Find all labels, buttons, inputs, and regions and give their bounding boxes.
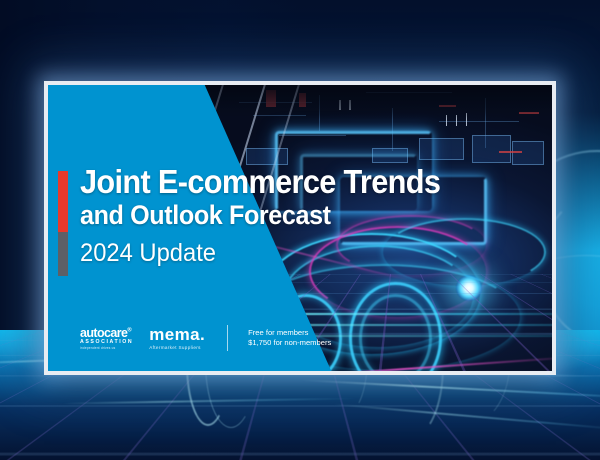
slide-content: Joint E-commerce Trends and Outlook Fore… xyxy=(48,85,552,371)
mema-subtitle: Aftermarket Suppliers xyxy=(149,346,201,351)
screenshot-stage: Joint E-commerce Trends and Outlook Fore… xyxy=(0,0,600,460)
mema-word-text: mema xyxy=(149,325,200,344)
mema-logo: mema. Aftermarket Suppliers xyxy=(149,326,205,351)
autocare-tagline: independent drives us xyxy=(80,347,115,350)
autocare-registered-mark: ® xyxy=(127,327,131,333)
mema-wordmark: mema. xyxy=(149,326,205,343)
slide-title-line-1: Joint E-commerce Trends xyxy=(80,165,480,198)
title-accent-bar xyxy=(58,171,68,276)
footer-divider xyxy=(227,325,228,351)
accent-bar-gray-segment xyxy=(58,232,68,276)
accent-bar-red-segment xyxy=(58,171,68,232)
autocare-association-logo: autocare® ASSOCIATION independent drives… xyxy=(80,326,133,351)
autocare-wordmark: autocare® xyxy=(80,326,131,339)
slide-title-line-2: and Outlook Forecast xyxy=(80,200,480,230)
pricing-member-line: Free for members xyxy=(248,328,331,338)
slide-title-block: Joint E-commerce Trends and Outlook Fore… xyxy=(80,165,510,268)
autocare-word-care: care xyxy=(104,325,127,340)
presentation-slide-card[interactable]: Joint E-commerce Trends and Outlook Fore… xyxy=(44,81,556,375)
slide-subtitle: 2024 Update xyxy=(80,240,489,268)
pricing-nonmember-line: $1,750 for non-members xyxy=(248,338,331,348)
autocare-association-text: ASSOCIATION xyxy=(80,340,133,345)
autocare-word-auto: auto xyxy=(80,325,104,340)
slide-footer: autocare® ASSOCIATION independent drives… xyxy=(80,325,331,351)
mema-period: . xyxy=(200,325,205,344)
pricing-block: Free for members $1,750 for non-members xyxy=(248,328,331,349)
